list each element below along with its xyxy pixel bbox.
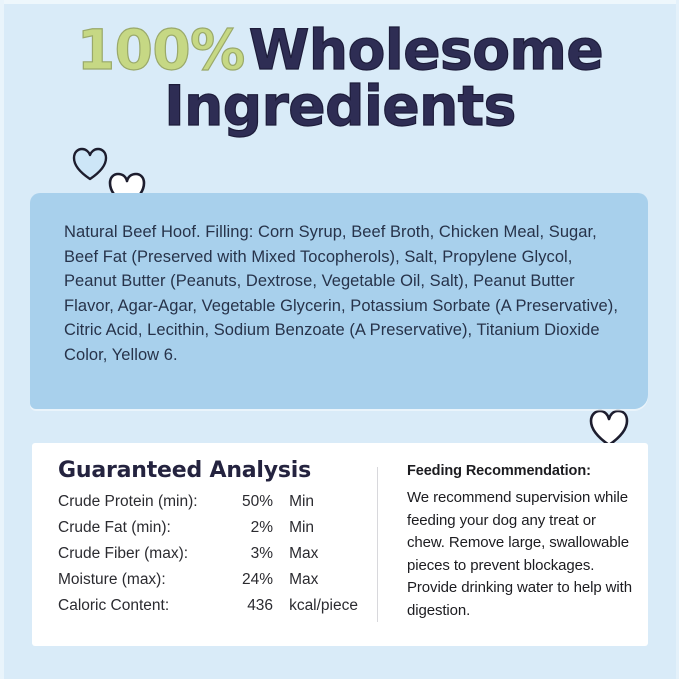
guaranteed-analysis-table: Crude Protein (min): 50% Min Crude Fat (… <box>58 493 358 623</box>
page-title-word-ingredients: Ingredients <box>40 78 640 134</box>
ga-row-0-value: 50% <box>224 493 273 519</box>
ga-row-1-label: Crude Fat (min): <box>58 519 224 545</box>
feeding-recommendation-body: We recommend supervision while feeding y… <box>407 487 632 622</box>
ga-row-0-unit: Min <box>273 493 358 519</box>
feeding-recommendation-title: Feeding Recommendation: <box>407 463 632 479</box>
ga-row-4-unit: kcal/piece <box>273 597 358 623</box>
table-row: Crude Fat (min): 2% Min <box>58 519 358 545</box>
ga-row-3-value: 24% <box>224 571 273 597</box>
ga-row-2-label: Crude Fiber (max): <box>58 545 224 571</box>
ga-row-1-unit: Min <box>273 519 358 545</box>
ingredients-panel: Natural Beef Hoof. Filling: Corn Syrup, … <box>30 193 648 409</box>
ga-row-3-label: Moisture (max): <box>58 571 224 597</box>
table-row: Crude Fiber (max): 3% Max <box>58 545 358 571</box>
ingredients-text: Natural Beef Hoof. Filling: Corn Syrup, … <box>64 220 618 367</box>
heart-blue-small-icon <box>72 147 108 181</box>
percent-badge-text: 100% <box>77 18 249 82</box>
frame-edge-top <box>0 0 679 4</box>
table-row: Crude Protein (min): 50% Min <box>58 493 358 519</box>
table-row: Caloric Content: 436 kcal/piece <box>58 597 358 623</box>
ga-row-1-value: 2% <box>224 519 273 545</box>
ga-row-0-label: Crude Protein (min): <box>58 493 224 519</box>
ga-row-4-value: 436 <box>224 597 273 623</box>
card-vertical-divider <box>377 467 378 622</box>
nutrition-info-card: Guaranteed Analysis Crude Protein (min):… <box>32 443 648 646</box>
ga-row-2-unit: Max <box>273 545 358 571</box>
heart-white-lower-icon <box>589 409 629 447</box>
frame-edge-left <box>0 0 4 679</box>
product-label-page: 100%Wholesome Ingredients Natural Beef H… <box>0 0 679 679</box>
ga-row-3-unit: Max <box>273 571 358 597</box>
page-title-line-1: 100%Wholesome <box>40 22 640 78</box>
ga-row-2-value: 3% <box>224 545 273 571</box>
guaranteed-analysis-title: Guaranteed Analysis <box>58 458 311 483</box>
page-title: 100%Wholesome Ingredients <box>40 22 640 134</box>
ga-row-4-label: Caloric Content: <box>58 597 224 623</box>
table-row: Moisture (max): 24% Max <box>58 571 358 597</box>
page-title-word-wholesome: Wholesome <box>249 18 603 82</box>
feeding-recommendation-block: Feeding Recommendation: We recommend sup… <box>407 463 632 622</box>
